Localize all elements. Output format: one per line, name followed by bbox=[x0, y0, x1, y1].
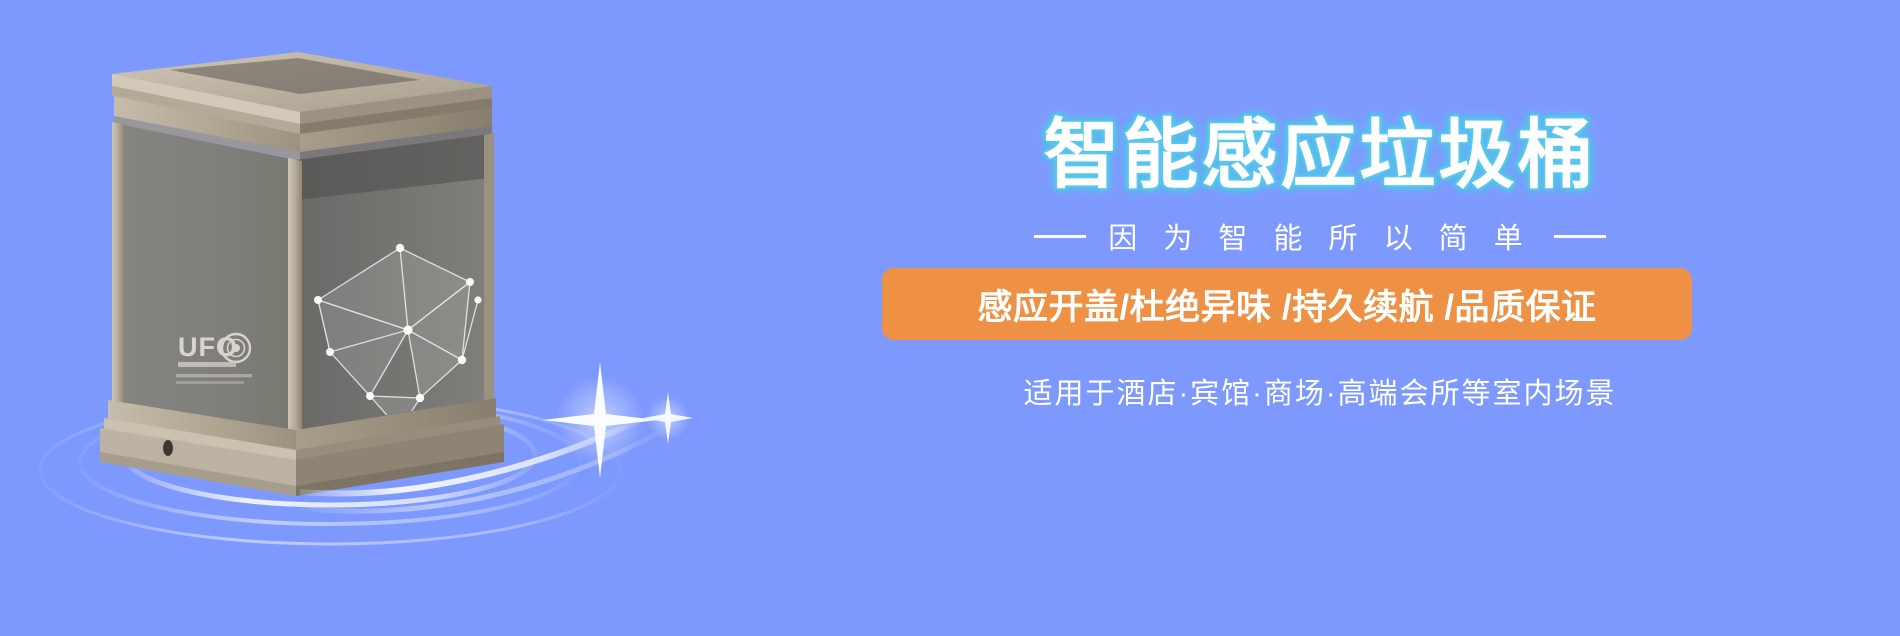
sparkle-star-large bbox=[542, 362, 658, 478]
usage-scenario-text: 适用于酒店·宾馆·商场·高端会所等室内场景 bbox=[820, 370, 1820, 412]
product-visual: UFO bbox=[0, 0, 760, 636]
subtitle-text: 因 为 智 能 所 以 简 单 bbox=[1108, 215, 1531, 257]
corner-post bbox=[288, 158, 302, 440]
left-edge-trim bbox=[112, 122, 124, 414]
feature-badge: 感应开盖/杜绝异味 /持久续航 /品质保证 bbox=[882, 268, 1692, 340]
trash-can-illustration: UFO bbox=[0, 0, 760, 636]
promo-banner: UFO bbox=[0, 0, 1900, 636]
subtitle-row: 因 为 智 能 所 以 简 单 bbox=[820, 215, 1820, 257]
subtitle-rule-right bbox=[1554, 235, 1606, 238]
feature-badge-text: 感应开盖/杜绝异味 /持久续航 /品质保证 bbox=[977, 279, 1596, 330]
copy-block: 智能感应垃圾桶 因 为 智 能 所 以 简 单 感应开盖/杜绝异味 /持久续航 … bbox=[820, 0, 1880, 636]
front-panel bbox=[118, 124, 296, 438]
right-edge-trim bbox=[484, 133, 494, 406]
page-title: 智能感应垃圾桶 bbox=[820, 118, 1820, 194]
subtitle-rule-left bbox=[1034, 235, 1086, 238]
